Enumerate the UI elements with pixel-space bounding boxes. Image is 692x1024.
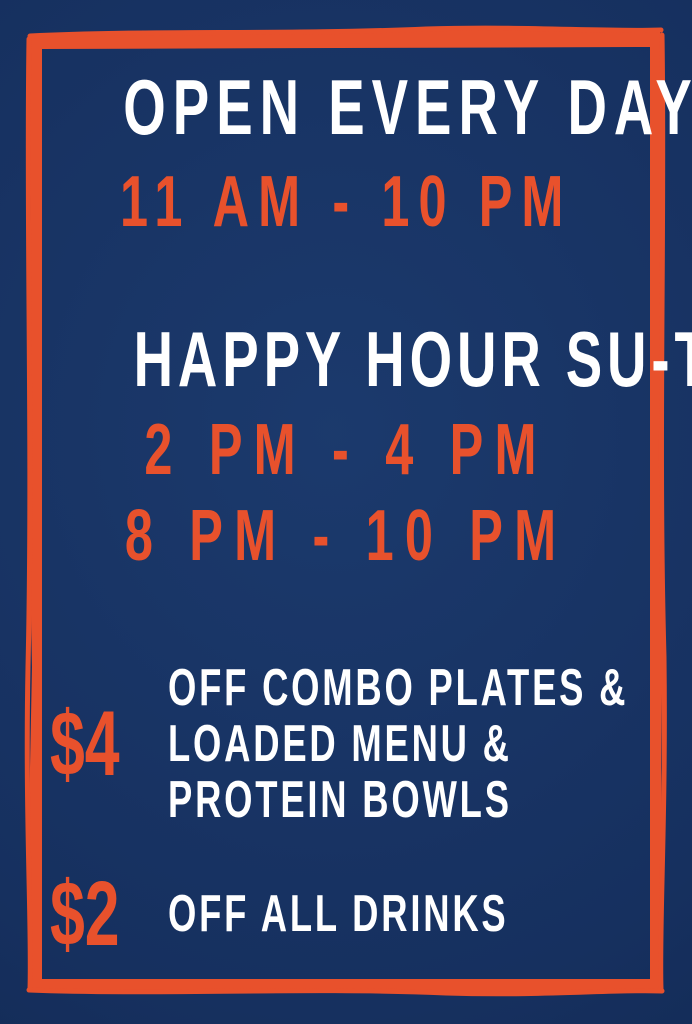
deal-description-drinks: OFF ALL DRINKS bbox=[168, 886, 654, 942]
open-hours-time: 11 AM - 10 PM bbox=[0, 166, 692, 238]
happy-hour-time-second-text: 8 PM - 10 PM bbox=[125, 500, 567, 572]
happy-hour-time-second: 8 PM - 10 PM bbox=[0, 500, 692, 572]
open-every-day-heading-text: OPEN EVERY DAY bbox=[123, 68, 692, 146]
happy-hour-time-first: 2 PM - 4 PM bbox=[0, 414, 692, 486]
deal-description-food-line-1: OFF COMBO PLATES & bbox=[168, 660, 628, 716]
deal-description-food-line-3: PROTEIN BOWLS bbox=[168, 772, 512, 828]
deal-price-food-text: $4 bbox=[50, 698, 120, 790]
deal-price-drinks-text: $2 bbox=[50, 868, 120, 960]
deal-row-food: $4 OFF COMBO PLATES & LOADED MENU & PROT… bbox=[50, 660, 692, 828]
deal-price-drinks: $2 bbox=[50, 868, 168, 960]
deal-description-drinks-line-1: OFF ALL DRINKS bbox=[168, 886, 508, 942]
happy-hour-heading: HAPPY HOUR SU-TH bbox=[0, 320, 692, 398]
happy-hour-heading-text: HAPPY HOUR SU-TH bbox=[134, 320, 692, 398]
open-hours-time-text: 11 AM - 10 PM bbox=[120, 166, 573, 238]
deal-description-food: OFF COMBO PLATES & LOADED MENU & PROTEIN… bbox=[168, 660, 692, 828]
happy-hour-time-first-text: 2 PM - 4 PM bbox=[144, 414, 547, 486]
deal-price-food: $4 bbox=[50, 698, 168, 790]
happy-hour-poster: OPEN EVERY DAY 11 AM - 10 PM HAPPY HOUR … bbox=[0, 0, 692, 1024]
open-every-day-heading: OPEN EVERY DAY bbox=[0, 68, 692, 146]
deal-row-drinks: $2 OFF ALL DRINKS bbox=[50, 868, 654, 960]
deal-description-food-line-2: LOADED MENU & bbox=[168, 716, 512, 772]
